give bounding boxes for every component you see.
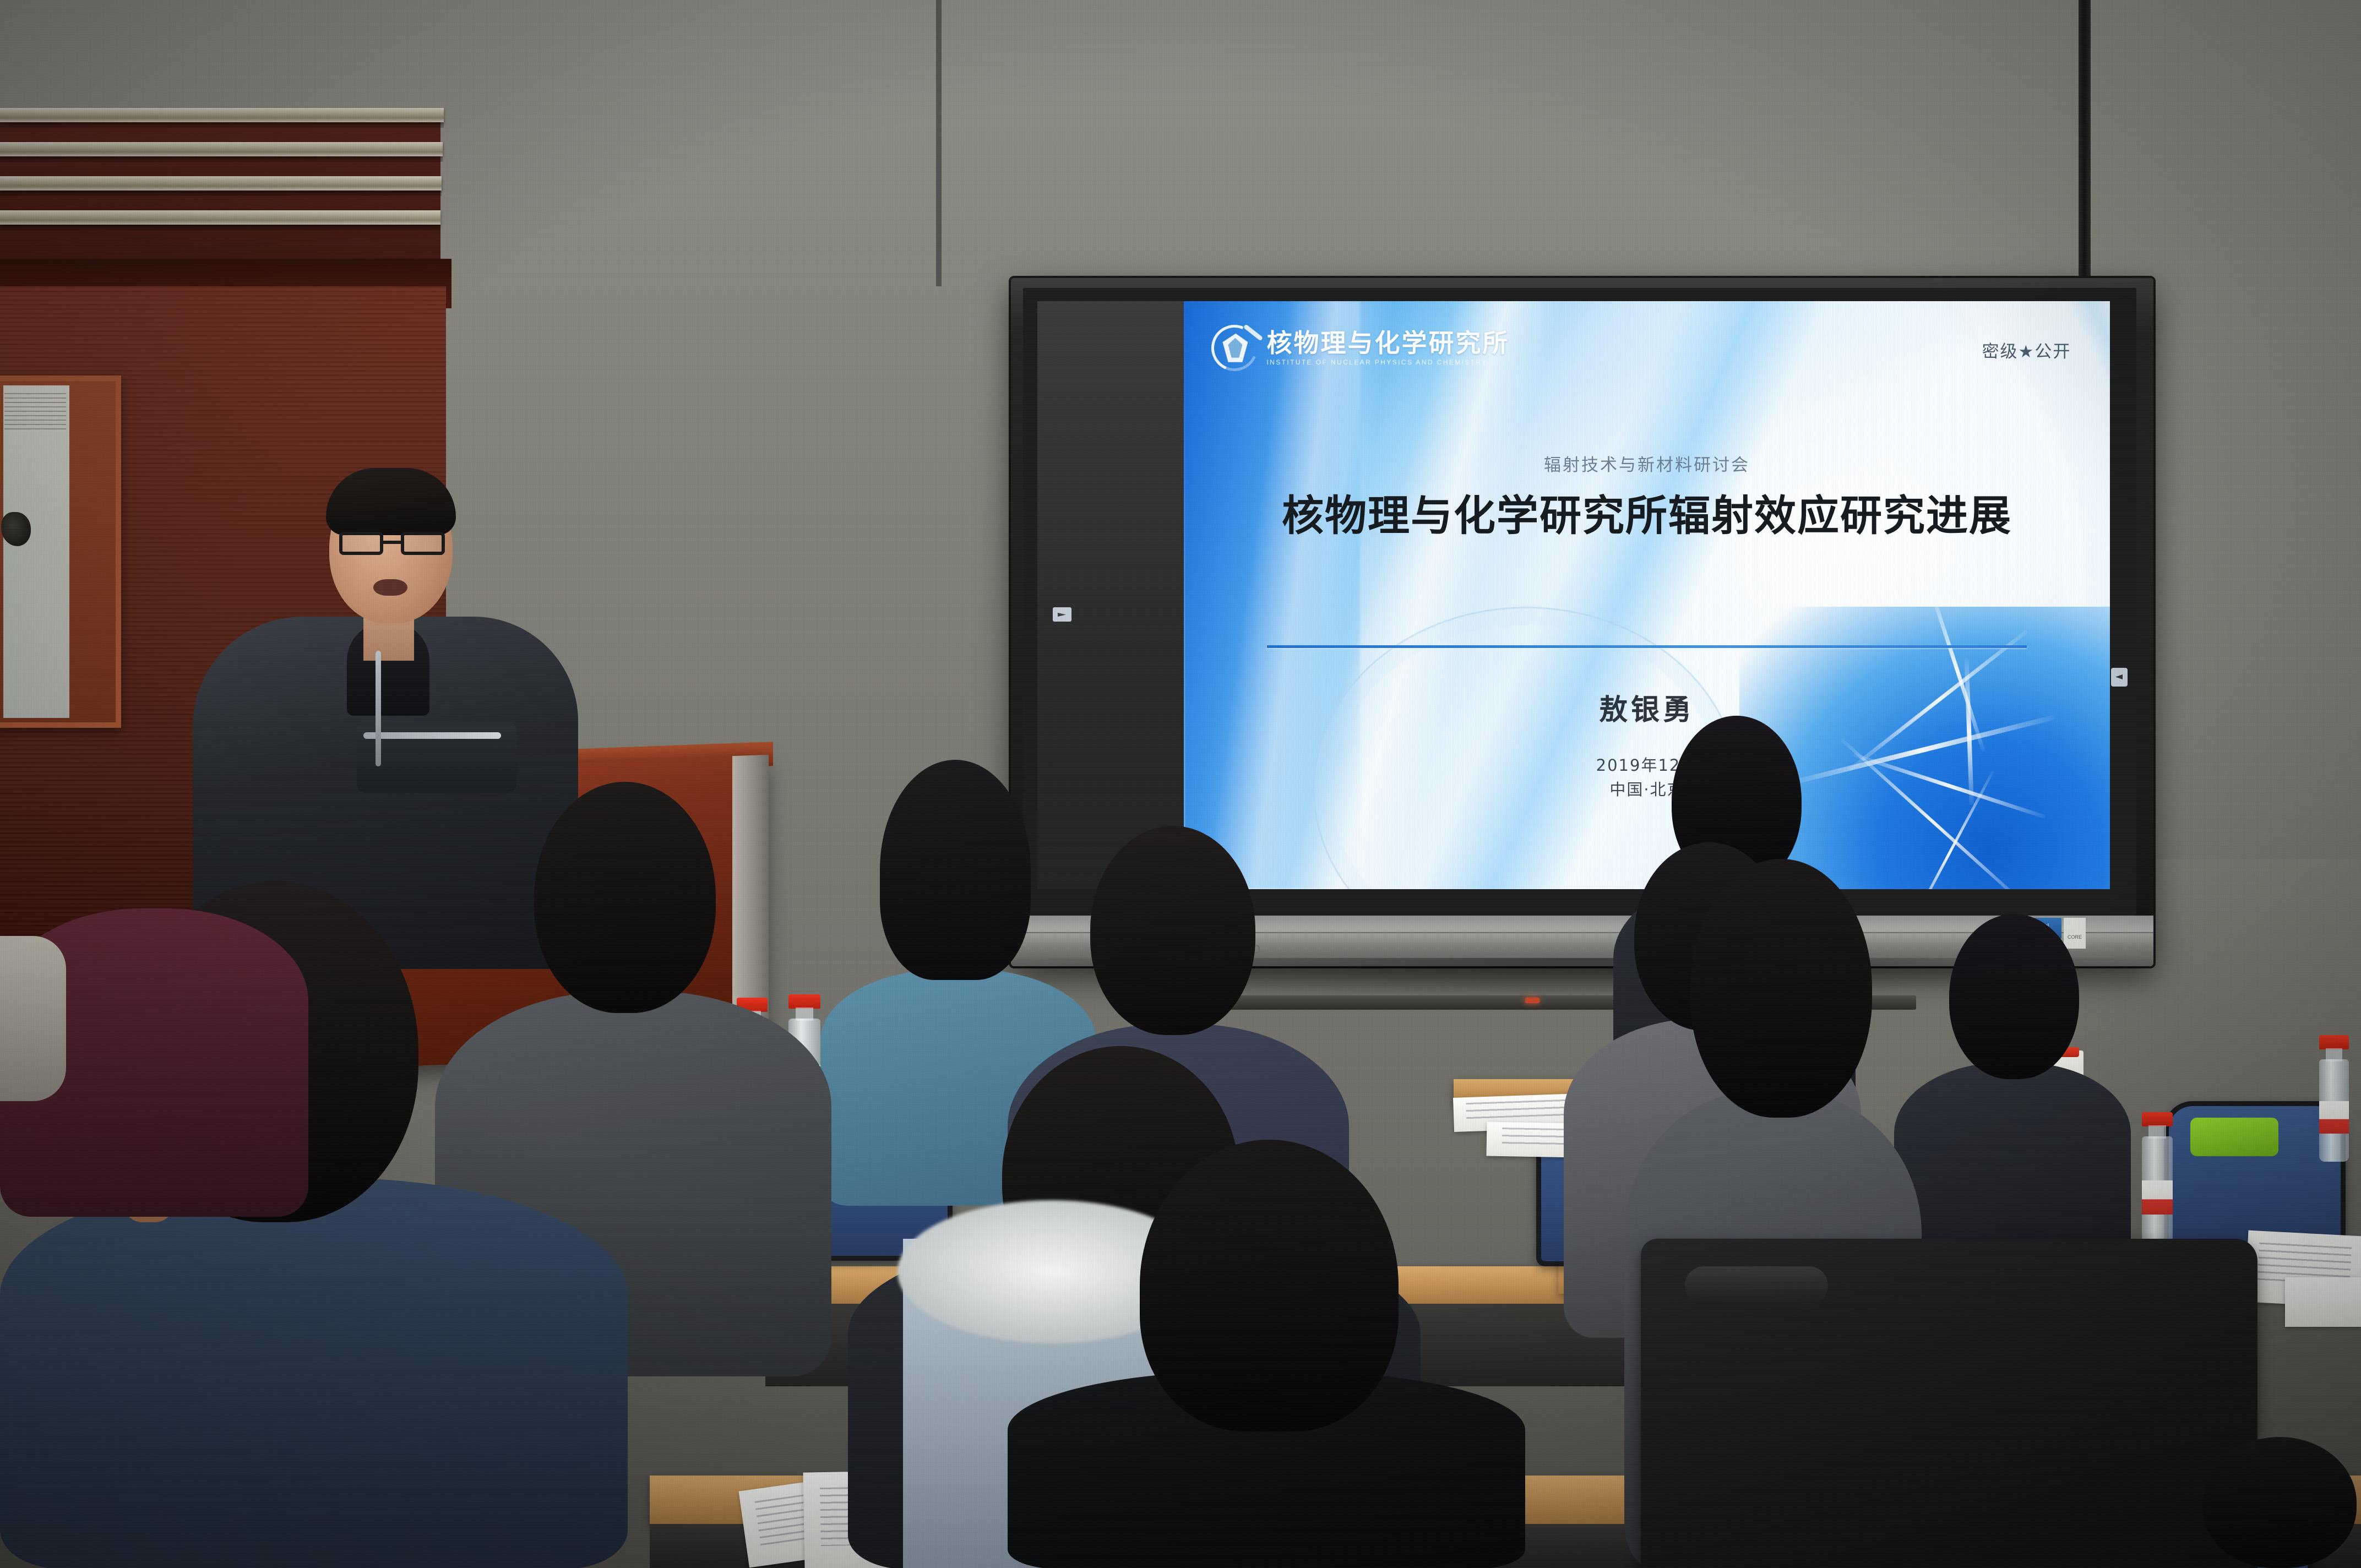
audience-head xyxy=(1949,914,2079,1079)
slide-divider xyxy=(1267,645,2026,648)
audience-body-blue-polo xyxy=(0,1178,628,1568)
right-bezel-sticker-icon xyxy=(2111,668,2128,687)
audience-head-long-hair xyxy=(1140,1140,1399,1431)
water-bottle-5[interactable] xyxy=(2319,1035,2349,1162)
water-bottle-4[interactable] xyxy=(2142,1112,2173,1243)
wall-slat-2 xyxy=(0,142,443,156)
presenter-glasses-icon xyxy=(339,532,445,556)
audience-head xyxy=(1690,859,1872,1118)
wall-slat-1 xyxy=(0,108,444,122)
conference-room-photo: 核物理与化学研究所 INSTITUTE OF NUCLEAR PHYSICS A… xyxy=(0,0,2361,1568)
presenter-hair xyxy=(326,468,456,535)
left-bezel-sticker-icon xyxy=(1053,607,1071,622)
audience-member-far-left-light xyxy=(0,936,66,1101)
artwork-paper xyxy=(3,385,69,718)
logo-text-english: INSTITUTE OF NUCLEAR PHYSICS AND CHEMIST… xyxy=(1266,358,1509,366)
presenter-zipper-icon xyxy=(363,732,501,739)
institute-logo: 核物理与化学研究所 INSTITUTE OF NUCLEAR PHYSICS A… xyxy=(1211,325,1509,371)
audience-member-bottom-right xyxy=(2191,1437,2361,1568)
backpack-strap xyxy=(1685,1266,1828,1305)
wall-seam-left xyxy=(936,0,942,286)
artwork-ink-mark xyxy=(1,512,31,546)
wall-slat-4-shadow xyxy=(0,225,440,230)
paper-sheet-4[interactable] xyxy=(2285,1277,2361,1327)
wall-slat-3 xyxy=(0,176,442,190)
wall-slat-1-shadow xyxy=(0,122,444,128)
wall-slat-3-shadow xyxy=(0,190,442,196)
presenter-mouth xyxy=(373,579,407,596)
wall-slat-2-shadow xyxy=(0,156,443,162)
wall-slat-4 xyxy=(0,210,440,225)
cable-tray-led-icon xyxy=(1525,998,1539,1003)
display-bezel: 核物理与化学研究所 INSTITUTE OF NUCLEAR PHYSICS A… xyxy=(1023,288,2136,916)
green-item[interactable] xyxy=(2190,1118,2278,1156)
audience-head xyxy=(2202,1437,2357,1568)
slide-title: 核物理与化学研究所辐射效应研究进展 xyxy=(1221,492,2072,540)
presenter-front-zipper-icon xyxy=(376,651,381,766)
audience-head xyxy=(1090,826,1255,1035)
atom-logo-icon xyxy=(1211,325,1258,371)
classification-badge: 密级★公开 xyxy=(1982,337,2071,362)
audience-member-front-center xyxy=(1008,1140,1525,1568)
logo-text-chinese: 核物理与化学研究所 xyxy=(1266,330,1509,356)
slide-subtitle: 辐射技术与新材料研讨会 xyxy=(1184,451,2110,476)
framed-artwork xyxy=(0,375,121,728)
artwork-texture xyxy=(4,393,66,432)
